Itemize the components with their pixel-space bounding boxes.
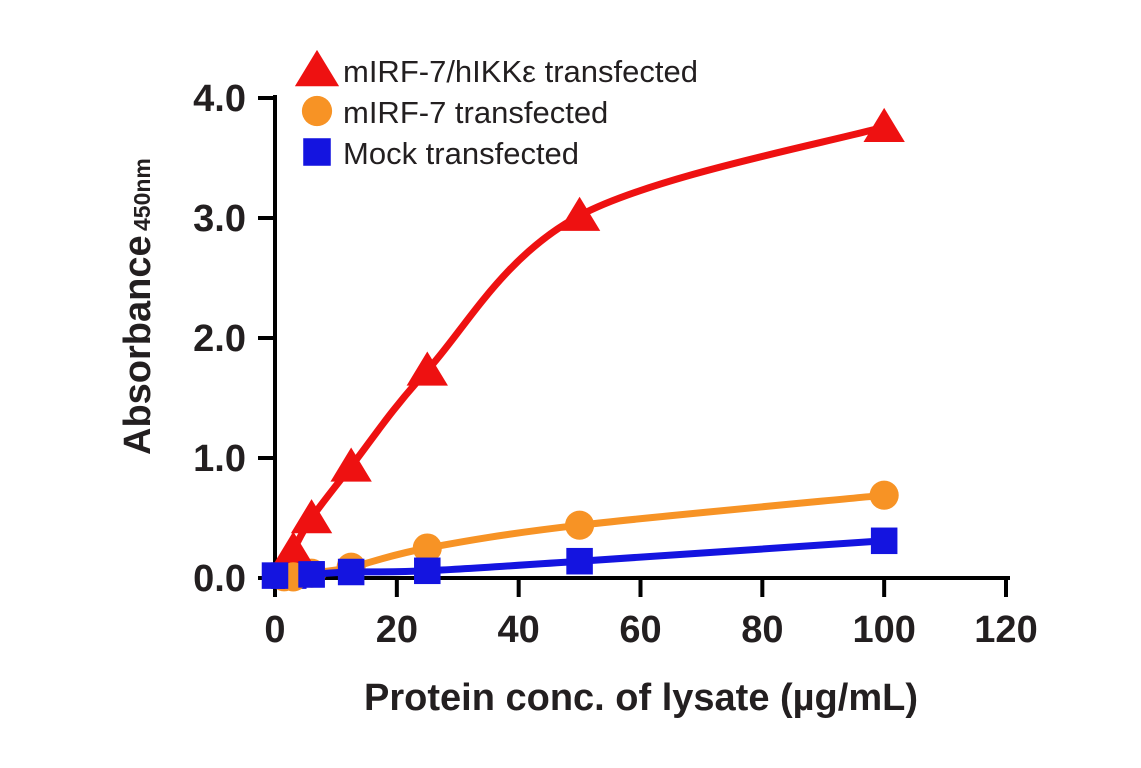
y-tick-label: 2.0 [193, 318, 246, 360]
legend-item-3[interactable]: Mock transfected [303, 136, 579, 171]
y-tick-label: 4.0 [193, 78, 246, 120]
x-tick-label: 100 [852, 609, 915, 651]
y-axis-title-text: Absorbance [117, 235, 159, 455]
legend-item-label: mIRF-7 transfected [343, 95, 608, 130]
y-tick-label: 1.0 [193, 438, 246, 480]
series-curve [275, 127, 884, 576]
data-point-marker-circle [565, 511, 594, 540]
x-axis-title-text: Protein conc. of lysate (µg/mL) [364, 677, 918, 719]
x-tick-label: 0 [264, 609, 285, 651]
y-tick-label: 0.0 [193, 558, 246, 600]
y-axis-title-subscript: 450nm [129, 158, 155, 231]
data-point-marker-triangle [559, 197, 600, 231]
x-tick-label: 60 [619, 609, 661, 651]
y-axis-ticks: 0.01.02.03.04.0 [193, 78, 277, 600]
data-point-marker-square [338, 559, 365, 586]
data-point-marker-square [303, 138, 331, 166]
data-point-marker-circle [302, 96, 332, 126]
legend-item-2[interactable]: mIRF-7 transfected [302, 95, 608, 130]
data-point-marker-square [262, 562, 289, 589]
data-point-marker-circle [870, 481, 899, 510]
data-point-marker-square [566, 548, 593, 575]
y-tick-label: 3.0 [193, 198, 246, 240]
data-point-marker-square [871, 528, 898, 555]
data-point-marker-triangle [863, 108, 904, 142]
series-layer [262, 108, 905, 591]
x-tick-label: 80 [741, 609, 783, 651]
chart-figure: 0.01.02.03.04.0 020406080100120 Absorban… [0, 0, 1141, 768]
legend-item-label: mIRF-7/hIKKε transfected [343, 54, 698, 89]
data-point-marker-square [298, 561, 325, 588]
origin-markers [262, 561, 325, 591]
x-tick-label: 40 [498, 609, 540, 651]
data-point-marker-triangle [295, 50, 339, 86]
legend-item-1[interactable]: mIRF-7/hIKKε transfected [295, 50, 698, 89]
x-tick-label: 120 [974, 609, 1037, 651]
x-axis-ticks: 020406080100120 [264, 576, 1037, 651]
data-point-marker-triangle [273, 532, 314, 566]
legend-item-label: Mock transfected [343, 136, 579, 171]
absorbance-line-chart: 0.01.02.03.04.0 020406080100120 Absorban… [0, 0, 1141, 768]
chart-legend: mIRF-7/hIKKε transfectedmIRF-7 transfect… [295, 50, 698, 171]
data-point-marker-square [414, 558, 441, 585]
x-tick-label: 20 [376, 609, 418, 651]
data-point-marker-triangle [291, 499, 332, 533]
y-axis-title: Absorbance 450nm [117, 158, 159, 455]
